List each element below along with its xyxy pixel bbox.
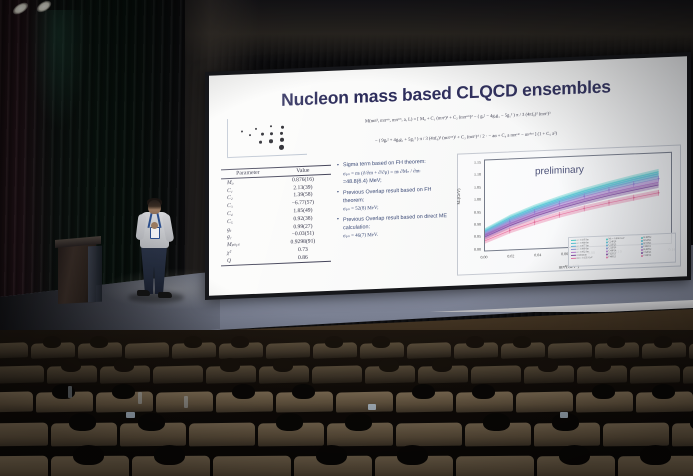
legend-swatch xyxy=(571,249,576,251)
audience-head xyxy=(559,445,590,465)
audience-seat xyxy=(689,342,693,359)
audience-seat xyxy=(125,342,169,359)
parameter-name: Q xyxy=(221,255,275,265)
audience-head xyxy=(432,358,452,372)
nucleon-mass-chart: Mₙ(GeV) 1.151.101.051.000.950.900.850.80… xyxy=(457,144,681,275)
legend-item: C48P14 xyxy=(641,253,674,257)
water-bottle xyxy=(138,392,142,404)
scatter-point xyxy=(280,132,283,136)
parameter-value: 0.86 xyxy=(275,253,331,264)
audience-seat xyxy=(548,342,592,359)
formula-line-1: M(mπ², mπᵛᵐ, mπᵛᵐ, a, L) = [ M₀ + C₁ (mπ… xyxy=(365,110,550,126)
audience-seat xyxy=(266,342,310,359)
y-tick-label: 1.00 xyxy=(474,197,481,202)
fit-parameter-table: Parameter Value M₀0.876(16)C₁2.13(39)C₂1… xyxy=(221,165,331,266)
legend-swatch xyxy=(571,246,576,248)
list-item: Sigma term based on FH theorem: σₚₙ = mₗ… xyxy=(337,158,449,187)
audience-head xyxy=(43,336,61,348)
x-tick-label: 0.00 xyxy=(481,254,488,259)
y-tick-label: 0.95 xyxy=(474,209,481,214)
audience-head xyxy=(273,358,293,372)
ensemble-scatter-plot xyxy=(215,116,310,162)
scatter-point xyxy=(270,125,272,127)
audience-seat xyxy=(213,456,291,476)
audience-head xyxy=(592,384,615,400)
legend-column-middle: Mₙ = 0.938 GeVC24P29C32P23C32P30C48P14F3… xyxy=(606,237,639,263)
audience-seat xyxy=(630,365,680,384)
audience-head xyxy=(472,384,495,400)
scatter-point xyxy=(280,138,284,142)
bullet-result: σₚₙ = 46(7) MeV. xyxy=(343,229,449,240)
speaker-head xyxy=(148,200,161,214)
microphone-stand xyxy=(88,246,102,303)
audience-seat xyxy=(0,456,48,476)
audience-head xyxy=(61,358,81,372)
legend-swatch xyxy=(606,238,608,240)
formula-line-2: − ( 9gₐ² + 4gₐg₁ + 5g₁² ) π / 3 (4πf₀)² … xyxy=(375,130,557,146)
scatter-point xyxy=(279,145,284,150)
x-tick-label: 0.02 xyxy=(507,253,514,258)
legend-swatch xyxy=(641,249,643,251)
audience-head xyxy=(114,358,134,372)
audience-seat xyxy=(0,342,28,359)
chart-legend: a = 0.105 fma = 0.088 fma = 0.077 fma = … xyxy=(568,233,676,267)
legend-label: F48P21 xyxy=(609,256,616,259)
legend-swatch xyxy=(571,255,576,257)
audience-seat xyxy=(516,391,573,412)
audience-seat xyxy=(336,391,393,412)
scatter-point xyxy=(259,141,262,144)
audience-seat xyxy=(0,365,44,384)
legend-label: mπ = 0.135 GeV xyxy=(577,257,593,260)
audience-head xyxy=(513,336,531,348)
y-tick-label: 0.80 xyxy=(474,246,481,251)
speaker-shoe xyxy=(137,290,150,296)
y-axis-label: Mₙ(GeV) xyxy=(456,188,461,204)
bullet-text: Sigma term based on FH theorem: xyxy=(343,159,426,168)
speaker-hand xyxy=(151,222,158,229)
audience-seat xyxy=(471,365,521,384)
water-bottle xyxy=(68,386,72,398)
y-tick-label: 1.05 xyxy=(474,184,481,189)
sigma-term-bullets: Sigma term based on FH theorem: σₚₙ = mₗ… xyxy=(337,158,449,244)
legend-swatch xyxy=(571,258,576,260)
scatter-y-axis xyxy=(227,119,228,157)
list-item: Previous Overlap result based on FH theo… xyxy=(337,186,449,214)
audience-head xyxy=(412,384,435,400)
legend-item: F48P21 xyxy=(606,255,639,259)
audience-head xyxy=(232,384,255,400)
x-tick-label: 0.06 xyxy=(561,251,568,256)
legend-swatch xyxy=(606,244,608,246)
legend-swatch xyxy=(641,243,643,245)
water-bottle xyxy=(184,396,188,408)
legend-swatch xyxy=(571,243,576,245)
legend-swatch xyxy=(641,240,643,242)
audience-head xyxy=(231,336,249,348)
scatter-point xyxy=(281,126,284,129)
chart-y-axis: Mₙ(GeV) 1.151.101.051.000.950.900.850.80 xyxy=(458,160,483,253)
legend-swatch xyxy=(641,255,643,257)
legend-swatch xyxy=(571,240,576,242)
audience-head xyxy=(397,445,428,465)
audience-seat xyxy=(456,456,534,476)
audience-head xyxy=(379,358,399,372)
audience-head xyxy=(90,336,108,348)
legend-column-left: a = 0.105 fma = 0.088 fma = 0.077 fma = … xyxy=(571,238,604,264)
phone-screen xyxy=(560,412,568,418)
audience-head xyxy=(276,413,302,431)
y-tick-label: 0.90 xyxy=(474,222,481,227)
y-tick-label: 1.15 xyxy=(474,160,481,165)
audience-seat xyxy=(0,422,48,445)
legend-swatch xyxy=(606,247,608,249)
audience-seat xyxy=(153,365,203,384)
audience-seat xyxy=(189,422,255,445)
scatter-point xyxy=(261,133,264,136)
bullet-text: Previous Overlap result based on FH theo… xyxy=(343,187,431,204)
bullet-result: =48.8(6.4) MeV; xyxy=(343,177,382,185)
audience-head xyxy=(154,445,185,465)
legend-swatch xyxy=(606,250,608,252)
y-tick-label: 0.85 xyxy=(474,234,481,239)
audience-head xyxy=(112,384,135,400)
speaker-shoe xyxy=(158,292,172,298)
y-tick-label: 1.10 xyxy=(474,172,481,177)
list-item: Previous Overlap result based on direct … xyxy=(337,213,449,241)
phone-screen xyxy=(368,404,376,410)
scatter-x-axis xyxy=(227,154,307,158)
audience-seat xyxy=(603,422,669,445)
audience-head xyxy=(591,358,611,372)
audience-seat xyxy=(407,342,451,359)
audience-head xyxy=(69,413,95,431)
audience-head xyxy=(372,336,390,348)
legend-swatch xyxy=(606,253,608,255)
legend-label: C48P14 xyxy=(644,254,652,257)
audience-head xyxy=(466,336,484,348)
bullet-text: Previous Overlap result based on direct … xyxy=(343,213,447,231)
scatter-point xyxy=(241,130,243,132)
audience-seat xyxy=(312,365,362,384)
audience-head xyxy=(292,384,315,400)
audience-head xyxy=(654,336,672,348)
legend-swatch xyxy=(606,256,608,258)
audience-head xyxy=(345,413,371,431)
x-tick-label: 0.04 xyxy=(534,252,541,257)
curtain-green-glow xyxy=(28,10,88,130)
phone-screen xyxy=(126,412,135,418)
audience-head xyxy=(316,445,347,465)
audience-seat xyxy=(683,365,693,384)
scatter-point xyxy=(270,132,273,135)
legend-swatch xyxy=(641,246,643,248)
presentation-slide: Nucleon mass based CLQCD ensembles xyxy=(209,56,687,296)
audience-seat xyxy=(396,422,462,445)
audience-head xyxy=(73,445,104,465)
legend-swatch xyxy=(641,237,643,239)
auditorium-photo: Nucleon mass based CLQCD ensembles xyxy=(0,0,693,476)
bullet-equation: σₚₙ = mₗ (∂/∂m + ∂/∂μ) = mₗ ∂Mₙ / ∂mₗ xyxy=(343,167,449,178)
scatter-point xyxy=(249,134,251,136)
audience-head xyxy=(652,384,675,400)
audience-head xyxy=(184,336,202,348)
scatter-point xyxy=(269,139,273,143)
audience-head xyxy=(538,358,558,372)
scatter-point xyxy=(255,128,257,130)
legend-swatch xyxy=(606,241,608,243)
legend-column-right: H48P32H64P21H72P21F48P21H48P32C32P23C48P… xyxy=(641,235,674,261)
audience-seat xyxy=(0,391,33,412)
audience-head xyxy=(220,358,240,372)
legend-swatch xyxy=(571,252,576,254)
audience-head xyxy=(325,336,343,348)
audience-head xyxy=(483,413,509,431)
audience-head xyxy=(607,336,625,348)
legend-item: mπ = 0.135 GeV xyxy=(571,256,604,260)
audience-head xyxy=(138,413,164,431)
audience-head xyxy=(640,445,671,465)
projection-screen: Nucleon mass based CLQCD ensembles xyxy=(209,56,687,296)
bullet-result: σₚₙ = 52(8) MeV; xyxy=(343,202,449,213)
legend-swatch xyxy=(641,252,643,254)
